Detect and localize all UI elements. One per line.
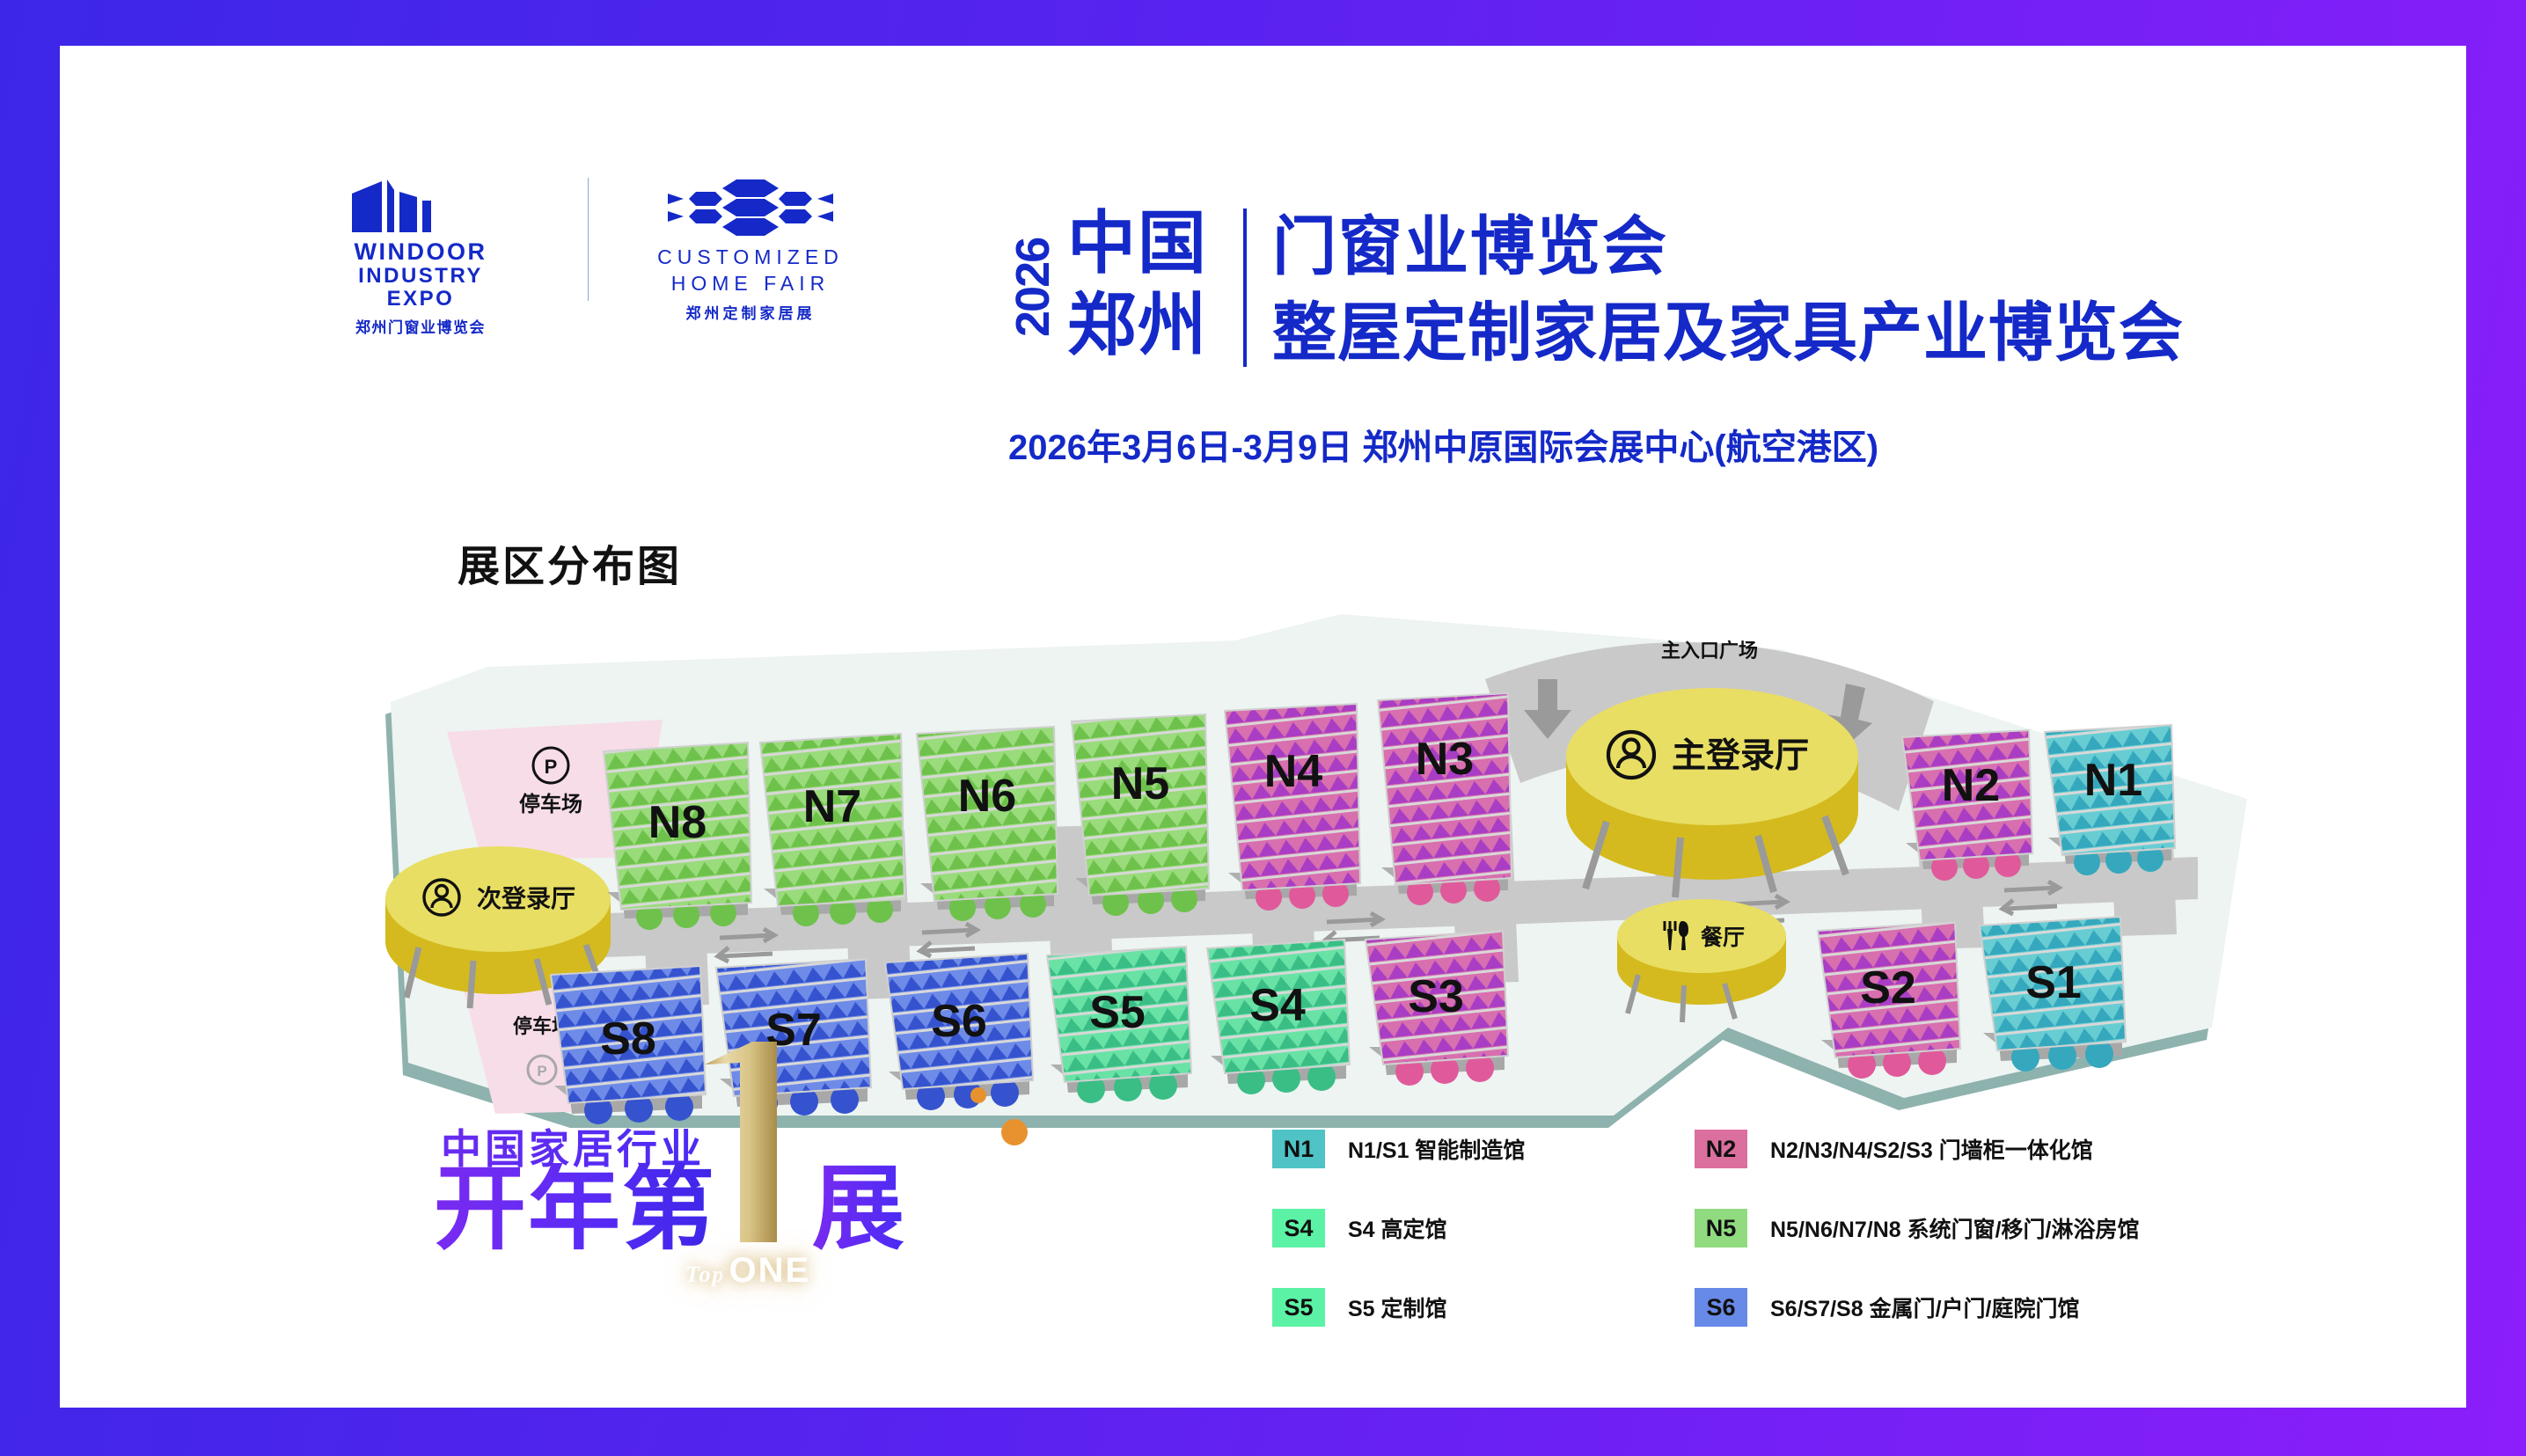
hall-label-S5: S5 bbox=[1089, 987, 1146, 1038]
customized-home-fair-logo: CUSTOMIZED HOME FAIR 郑州定制家居展 bbox=[641, 176, 860, 299]
event-date-venue: 2026年3月6日-3月9日 郑州中原国际会展中心(航空港区) bbox=[1008, 419, 1878, 470]
legend-text-s6: S6/S7/S8 金属门/户门/庭院门馆 bbox=[1770, 1291, 2079, 1323]
top-script-text: Top bbox=[685, 1262, 726, 1287]
event-city: 中国 郑州 bbox=[1067, 202, 1208, 366]
legend-chip-n1: N1 bbox=[1272, 1130, 1325, 1168]
legend-text-n2: N2/N3/N4/S2/S3 门墙柜一体化馆 bbox=[1770, 1133, 2093, 1165]
legend-item-s5[interactable]: S5 S5 定制馆 bbox=[1272, 1288, 1695, 1327]
top-one-text: TopONE bbox=[685, 1251, 844, 1291]
hall-label-N3: N3 bbox=[1416, 734, 1474, 785]
legend-row: N1 N1/S1 智能制造馆 N2 N2/N3/N4/S2/S3 门墙柜一体化馆 bbox=[1272, 1130, 2170, 1168]
hall-label-S6: S6 bbox=[931, 996, 987, 1047]
windoor-en-line2: INDUSTRY EXPO bbox=[324, 265, 517, 311]
hall-label-N2: N2 bbox=[1942, 760, 2000, 811]
legend-item-n5[interactable]: N5 N5/N6/N7/N8 系统门窗/移门/淋浴房馆 bbox=[1695, 1209, 2117, 1247]
legend-chip-s5: S5 bbox=[1272, 1288, 1325, 1327]
hall-N1[interactable]: N1 bbox=[2045, 725, 2175, 875]
legend-chip-s6: S6 bbox=[1695, 1288, 1747, 1327]
legend-text-s4: S4 高定馆 bbox=[1348, 1212, 1447, 1244]
hall-N3[interactable]: N3 bbox=[1378, 693, 1512, 905]
hall-label-N5: N5 bbox=[1111, 758, 1169, 809]
main-registration-label: 主登录厅 bbox=[1672, 737, 1809, 775]
legend-item-n2[interactable]: N2 N2/N3/N4/S2/S3 门墙柜一体化馆 bbox=[1695, 1130, 2117, 1168]
hall-N8[interactable]: N8 bbox=[604, 743, 751, 930]
hall-N4[interactable]: N4 bbox=[1225, 704, 1360, 911]
chf-en-line2: HOME FAIR bbox=[641, 271, 860, 297]
title-divider bbox=[1243, 209, 1247, 367]
decor-dot-small bbox=[970, 1087, 986, 1103]
windoor-logo: WINDOOR INDUSTRY EXPO 郑州门窗业博览会 bbox=[324, 178, 517, 296]
legend-row: S5 S5 定制馆 S6 S6/S7/S8 金属门/户门/庭院门馆 bbox=[1272, 1288, 2170, 1327]
hall-label-S4: S4 bbox=[1249, 980, 1306, 1031]
poster-card: WINDOOR INDUSTRY EXPO 郑州门窗业博览会 bbox=[60, 46, 2466, 1408]
building-logo-icon bbox=[341, 178, 500, 232]
hall-label-N4: N4 bbox=[1264, 746, 1323, 797]
hall-label-S8: S8 bbox=[600, 1013, 656, 1065]
legend-item-n1[interactable]: N1 N1/S1 智能制造馆 bbox=[1272, 1130, 1695, 1168]
event-title-line2: 整屋定制家居及家具产业博览会 bbox=[1272, 301, 2184, 365]
poster-header: WINDOOR INDUSTRY EXPO 郑州门窗业博览会 bbox=[60, 46, 2466, 415]
diamond-lattice-logo-icon bbox=[661, 176, 841, 238]
legend-chip-s4: S4 bbox=[1272, 1209, 1325, 1247]
map-legend: N1 N1/S1 智能制造馆 N2 N2/N3/N4/S2/S3 门墙柜一体化馆… bbox=[1272, 1130, 2170, 1367]
hall-N6[interactable]: N6 bbox=[917, 727, 1058, 921]
hall-N7[interactable]: N7 bbox=[760, 734, 904, 926]
legend-text-n5: N5/N6/N7/N8 系统门窗/移门/淋浴房馆 bbox=[1770, 1212, 2140, 1244]
parking-p-letter-north: P bbox=[545, 756, 558, 778]
legend-chip-n5: N5 bbox=[1695, 1209, 1747, 1247]
hall-S5[interactable]: S5 bbox=[1047, 947, 1191, 1103]
legend-chip-n2: N2 bbox=[1695, 1130, 1747, 1168]
slogan-tail-text: 展 bbox=[812, 1163, 904, 1255]
slogan-big-text: 开年第 bbox=[434, 1163, 716, 1255]
hall-label-N1: N1 bbox=[2084, 755, 2142, 806]
legend-text-n1: N1/S1 智能制造馆 bbox=[1348, 1133, 1525, 1165]
hall-S3[interactable]: S3 bbox=[1366, 931, 1508, 1086]
logo-divider bbox=[588, 178, 589, 301]
hall-S1[interactable]: S1 bbox=[1980, 917, 2126, 1072]
parking-north-label: 停车场 bbox=[519, 792, 582, 816]
legend-item-s4[interactable]: S4 S4 高定馆 bbox=[1272, 1209, 1695, 1247]
event-title-line1: 门窗业博览会 bbox=[1272, 215, 1668, 279]
legend-row: S4 S4 高定馆 N5 N5/N6/N7/N8 系统门窗/移门/淋浴房馆 bbox=[1272, 1209, 2170, 1247]
chf-en-line1: CUSTOMIZED bbox=[641, 245, 860, 271]
restaurant-label: 餐厅 bbox=[1701, 926, 1745, 950]
exhibition-floor-map[interactable]: 主入口广场 bbox=[350, 547, 2268, 1128]
hall-label-S2: S2 bbox=[1860, 962, 1916, 1013]
floor-map-svg[interactable]: 主入口广场 bbox=[350, 547, 2268, 1128]
main-entrance-plaza-label: 主入口广场 bbox=[1661, 640, 1758, 662]
hall-label-S3: S3 bbox=[1408, 971, 1464, 1022]
hall-N2[interactable]: N2 bbox=[1902, 730, 2032, 881]
hall-S4[interactable]: S4 bbox=[1207, 940, 1350, 1094]
event-country-label: 中国 bbox=[1067, 202, 1208, 284]
hall-S2[interactable]: S2 bbox=[1818, 922, 1960, 1079]
event-city-label: 郑州 bbox=[1067, 284, 1208, 366]
windoor-en-line1: WINDOOR bbox=[324, 239, 517, 265]
hall-label-N8: N8 bbox=[648, 797, 707, 848]
hall-label-N7: N7 bbox=[803, 781, 861, 832]
hall-N5[interactable]: N5 bbox=[1072, 714, 1209, 916]
one-text: ONE bbox=[729, 1251, 811, 1290]
decor-dot-large bbox=[1001, 1119, 1028, 1145]
slogan-block: 中国家居行业 开年第 展 TopONE bbox=[425, 1075, 1041, 1339]
windoor-cn: 郑州门窗业博览会 bbox=[324, 315, 517, 337]
event-year: 2026 bbox=[1006, 209, 1060, 367]
hall-label-N6: N6 bbox=[958, 771, 1016, 822]
chf-cn: 郑州定制家居展 bbox=[641, 301, 860, 323]
legend-item-s6[interactable]: S6 S6/S7/S8 金属门/户门/庭院门馆 bbox=[1695, 1288, 2117, 1327]
legend-text-s5: S5 定制馆 bbox=[1348, 1291, 1447, 1323]
secondary-registration-label: 次登录厅 bbox=[477, 885, 575, 912]
hall-label-S1: S1 bbox=[2025, 957, 2082, 1008]
